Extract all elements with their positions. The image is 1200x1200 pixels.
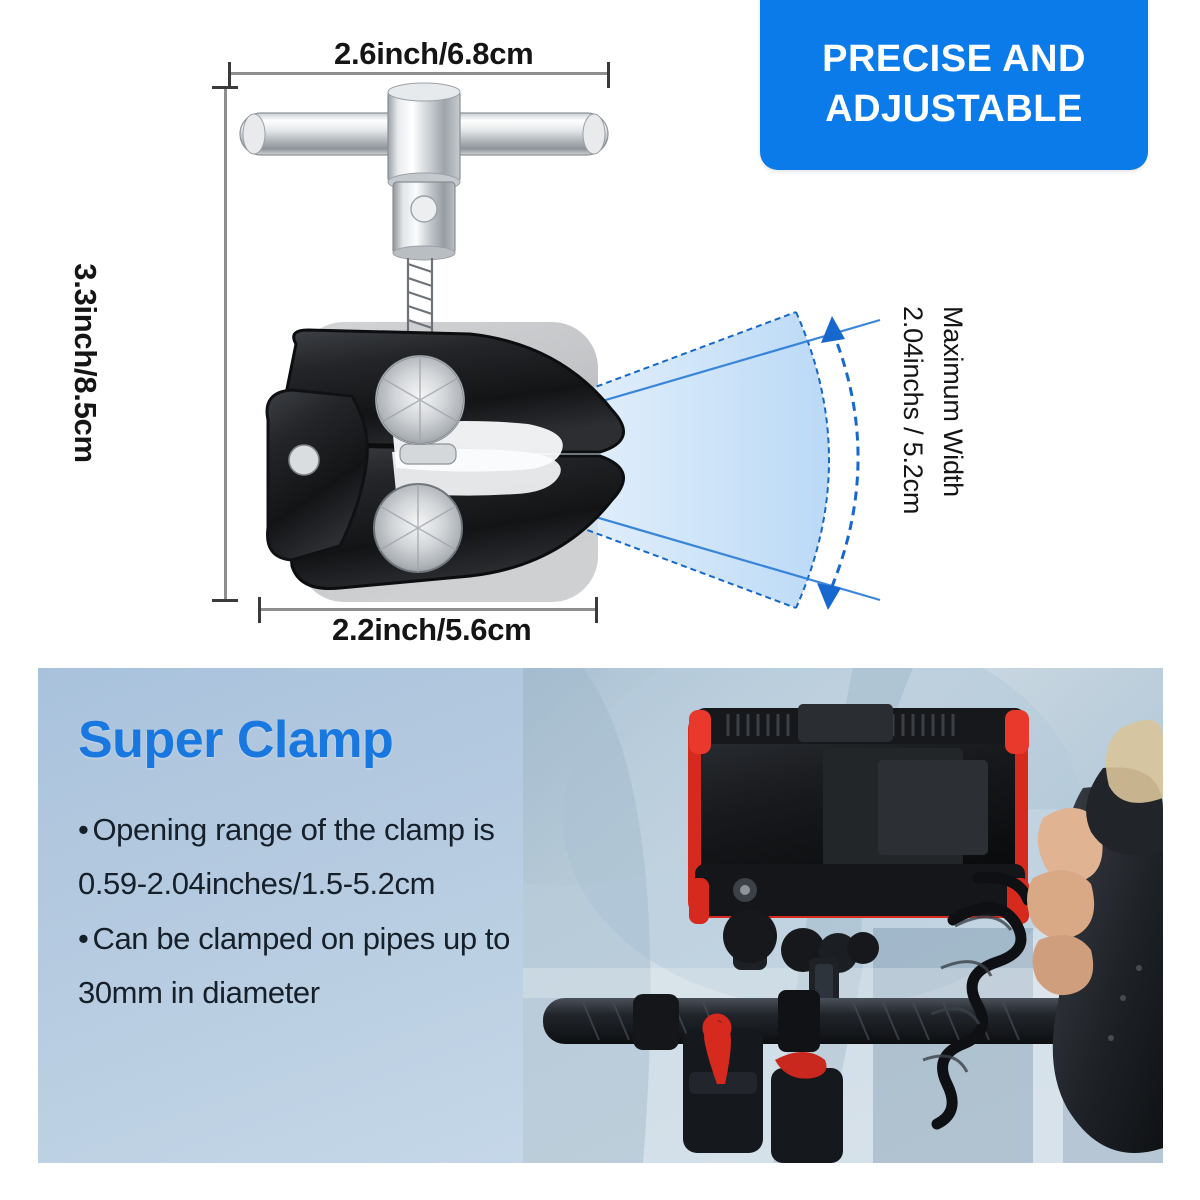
- maximum-width-label-line-1: Maximum Width: [937, 306, 968, 497]
- left-dimension-tick-top: [212, 86, 238, 89]
- camera-monitor: [688, 704, 1029, 924]
- left-dimension-tick-bottom: [212, 599, 238, 602]
- panel-title: Super Clamp: [78, 712, 598, 769]
- bottom-dimension-tick-right: [595, 597, 598, 623]
- clamp-in-use-photo: [523, 668, 1163, 1163]
- bullet-1-line-1: •Opening range of the clamp is: [78, 805, 598, 855]
- top-dimension-tick-right: [607, 62, 610, 88]
- panel-copy: Super Clamp •Opening range of the clamp …: [78, 712, 598, 1022]
- product-dimension-diagram: 2.6inch/6.8cm 3.3inch/8.5cm 2.2inch/5.6c…: [0, 0, 1200, 668]
- top-dimension-label: 2.6inch/6.8cm: [334, 36, 533, 72]
- bullet-1-line-2: 0.59-2.04inches/1.5-5.2cm: [78, 859, 598, 909]
- super-clamp-feature-panel: Super Clamp •Opening range of the clamp …: [38, 668, 1163, 1163]
- bottom-dimension-tick-left: [258, 597, 261, 623]
- top-dimension-line: [228, 72, 610, 75]
- left-dimension-label: 3.3inch/8.5cm: [67, 213, 103, 513]
- bottom-dimension-label: 2.2inch/5.6cm: [332, 612, 531, 648]
- bullet-2-text-1: Can be clamped on pipes up to: [92, 921, 510, 956]
- bottom-dimension-line: [258, 608, 598, 611]
- maximum-width-label-line-2: 2.04inchs / 5.2cm: [897, 306, 928, 514]
- top-dimension-tick-left: [228, 62, 231, 88]
- t-handle: [240, 83, 608, 260]
- bullet-1-text-1: Opening range of the clamp is: [92, 812, 494, 847]
- bullet-marker-1: •: [78, 812, 88, 847]
- bullet-2-line-1: •Can be clamped on pipes up to: [78, 914, 598, 964]
- bullet-marker-2: •: [78, 921, 88, 956]
- infographic-root: PRECISE AND ADJUSTABLE: [0, 0, 1200, 1200]
- bullet-2-line-2: 30mm in diameter: [78, 968, 598, 1018]
- clamp-illustration: [0, 0, 1200, 668]
- left-dimension-line: [224, 86, 227, 602]
